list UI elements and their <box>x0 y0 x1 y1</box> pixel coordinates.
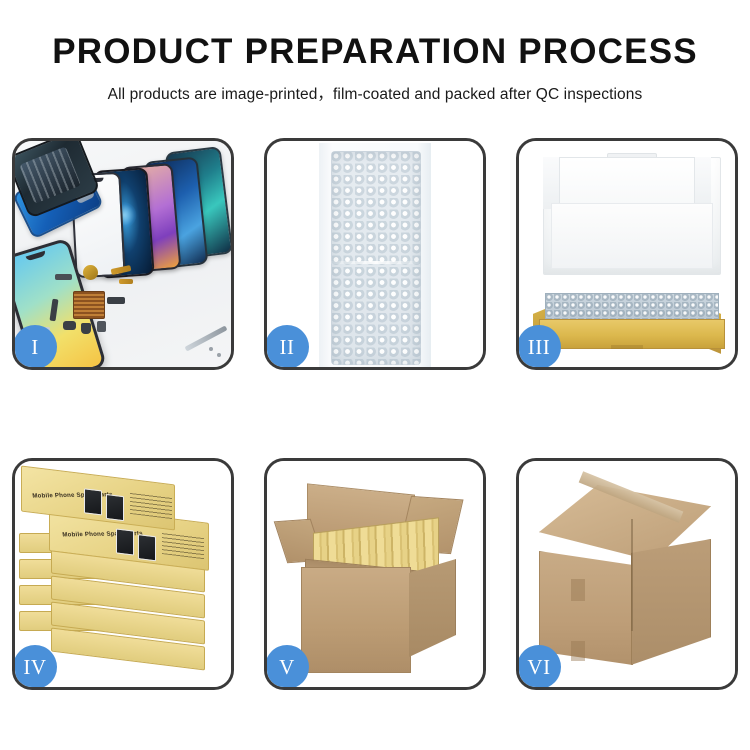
page-header: PRODUCT PREPARATION PROCESS All products… <box>0 0 750 104</box>
box-spec-lines-1 <box>130 492 172 519</box>
page-title: PRODUCT PREPARATION PROCESS <box>0 34 750 71</box>
vibrator-part-icon <box>81 323 91 334</box>
step-badge-4: IV <box>13 645 57 689</box>
box-screen-image-c <box>84 488 102 515</box>
process-step-panel-4: Mobile Phone Spare Parts Mobile Phone Sp… <box>12 458 234 690</box>
step-badge-1: I <box>13 325 57 369</box>
process-step-panel-6: VI <box>516 458 738 690</box>
process-step-grid: I II III <box>12 138 738 690</box>
box-screen-image-a <box>116 528 134 555</box>
process-step-panel-3: III <box>516 138 738 370</box>
box-screen-image-b <box>138 534 156 561</box>
speaker-part-icon <box>83 265 98 280</box>
bubble-wrap-icon <box>331 151 421 365</box>
sealed-carton-tape-patch-top <box>571 579 585 601</box>
sealed-carton-front-face <box>539 551 633 665</box>
bubble-wrap-seam <box>331 261 419 264</box>
inner-box-notch <box>611 345 643 349</box>
page-subtitle: All products are image-printed，film-coat… <box>0 82 750 104</box>
box-lid-flap-right-icon <box>694 157 711 209</box>
connector-part-icon <box>55 274 72 280</box>
foam-sheet-icon <box>551 203 713 269</box>
battery-connector-part-icon <box>97 321 106 332</box>
step-badge-6: VI <box>517 645 561 689</box>
process-step-panel-1: I <box>12 138 234 370</box>
flex-cable-part-2-icon <box>119 279 133 284</box>
carton-front-face <box>301 567 411 673</box>
screw-part-icon <box>217 353 221 357</box>
screw-part-2-icon <box>209 347 213 351</box>
process-step-panel-5: V <box>264 458 486 690</box>
sealed-carton-tape-patch-bottom <box>571 641 585 661</box>
box-lid-flap-left-icon <box>543 157 560 209</box>
sealed-carton-edge <box>631 519 633 631</box>
process-step-panel-2: II <box>264 138 486 370</box>
box-spec-lines-2 <box>162 532 204 559</box>
step-badge-3: III <box>517 325 561 369</box>
camera-module-part-icon <box>63 321 76 330</box>
button-flex-part-icon <box>107 297 125 304</box>
step-badge-2: II <box>265 325 309 369</box>
mesh-chip-part-icon <box>73 291 105 319</box>
box-screen-image-d <box>106 494 124 521</box>
step-badge-5: V <box>265 645 309 689</box>
